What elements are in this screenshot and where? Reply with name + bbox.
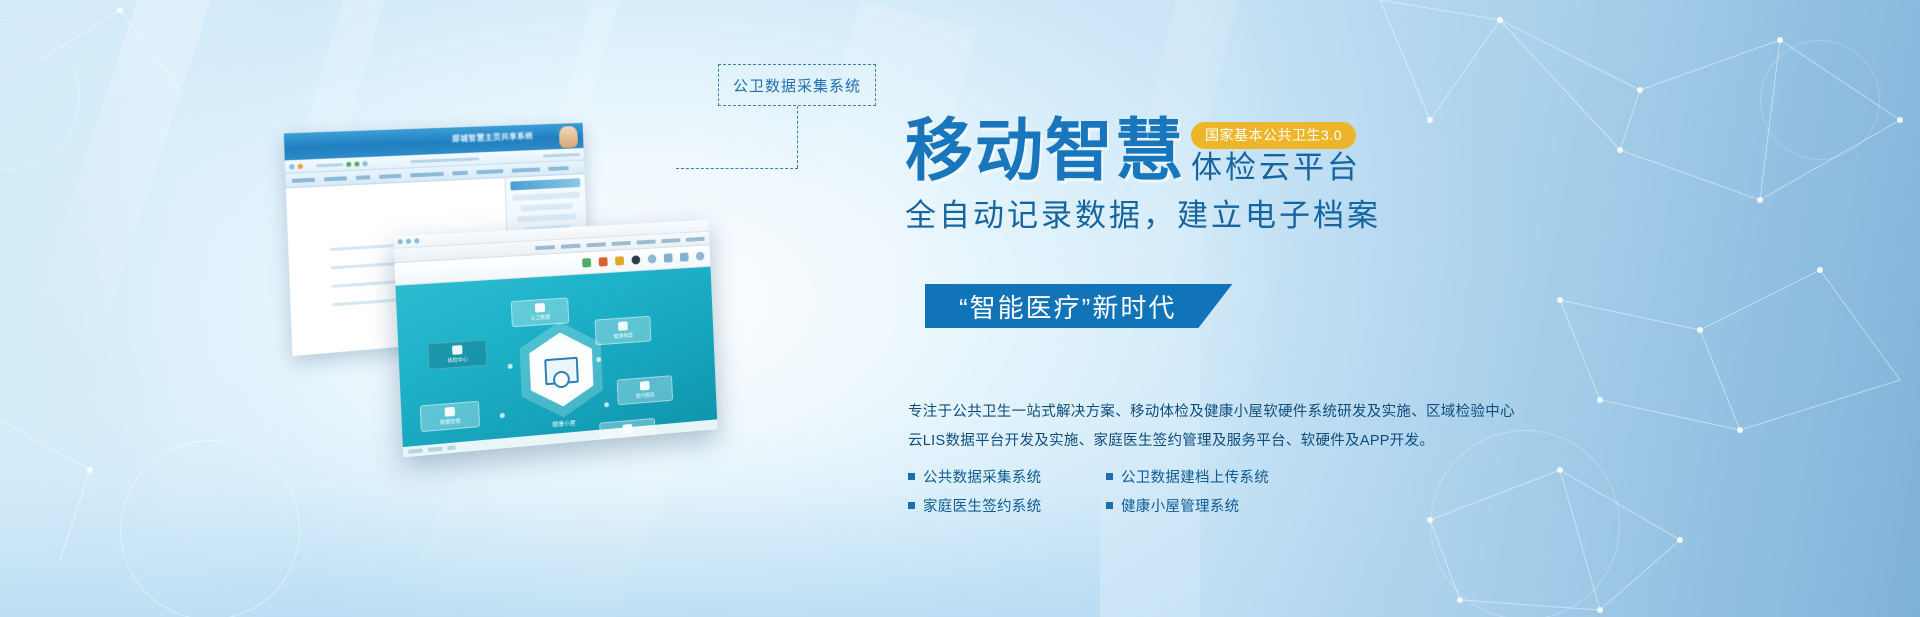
list-item-label: 公共数据采集系统	[923, 466, 1041, 487]
address-bar	[411, 157, 479, 163]
mockup-back-title: 郯城智慧主页共享系统	[452, 131, 533, 145]
hub-label: 健康小屋	[552, 418, 576, 429]
product-screenshots: 郯城智慧主页共享系统	[270, 100, 790, 470]
bullet-square-icon	[1106, 502, 1113, 509]
hand-icon	[445, 407, 456, 417]
gear-icon	[696, 252, 705, 261]
cloud-icon	[535, 303, 545, 313]
decorative-circle	[1430, 430, 1620, 617]
connector-node	[500, 413, 505, 418]
window-dot-icon	[414, 238, 419, 243]
headline-right-group: 国家基本公共卫生3.0 体检云平台	[1191, 122, 1361, 186]
refresh-icon	[346, 161, 351, 166]
description-block: 专注于公共卫生一站式解决方案、移动体检及健康小屋软硬件系统研发及实施、区域检验中…	[908, 398, 1518, 456]
list-item-label: 家庭医生签约系统	[923, 495, 1041, 516]
page-title: 移动智慧	[905, 118, 1185, 186]
callout-label: 公卫数据采集系统	[733, 75, 861, 96]
status-badge: 国家基本公共卫生3.0	[1191, 122, 1356, 149]
home-icon	[354, 161, 359, 166]
toolbar-placeholder	[316, 163, 343, 167]
callout-box: 公卫数据采集系统	[718, 64, 876, 106]
list-item[interactable]: 健康小屋管理系统	[1106, 491, 1269, 520]
doc-icon	[680, 252, 689, 261]
folder-icon	[615, 256, 624, 265]
bullet-square-icon	[908, 502, 915, 509]
dashboard-card-label: 签约服务	[636, 391, 655, 399]
search-document-icon	[544, 357, 579, 386]
ring-icon	[648, 254, 657, 263]
feature-list: 公共数据采集系统 公卫数据建档上传系统 家庭医生签约系统 健康小屋管理系统	[908, 462, 1269, 520]
dashboard-card[interactable]: 公卫数据	[511, 297, 570, 327]
nav-back-icon	[289, 164, 294, 169]
headline-subtitle: 体检云平台	[1191, 151, 1361, 184]
callout-leader-horizontal	[676, 168, 798, 169]
decorative-circle	[1760, 40, 1880, 160]
description-line-2: 云LIS数据平台开发及实施、家庭医生签约管理及服务平台、软硬件及APP开发。	[908, 427, 1518, 456]
tool-icon	[640, 381, 650, 391]
box-icon	[664, 253, 673, 262]
headline-group: 移动智慧 国家基本公共卫生3.0 体检云平台 全自动记录数据，建立电子档案	[905, 118, 1381, 235]
slogan-text: “智能医疗”新时代	[959, 288, 1176, 325]
stop-icon	[362, 161, 367, 166]
window-dot-icon	[398, 239, 403, 244]
connector-node	[508, 364, 513, 369]
circle-icon	[631, 255, 640, 264]
dashboard-card-label: 公卫数据	[530, 314, 550, 322]
building-icon	[599, 257, 608, 266]
hero-banner: 郯城智慧主页共享系统	[0, 0, 1920, 617]
headline-row-2: 全自动记录数据，建立电子档案	[905, 190, 1381, 235]
dashboard-card-label: 体检中心	[447, 356, 468, 365]
dashboard-card-label: 数据管理	[440, 418, 461, 427]
nav-forward-icon	[298, 163, 303, 168]
person-icon	[452, 345, 463, 355]
dashboard-card[interactable]: 数据管理	[420, 401, 480, 432]
tree-icon	[582, 258, 591, 267]
decorative-circle	[0, 20, 80, 170]
description-line-1: 专注于公共卫生一站式解决方案、移动体检及健康小屋软硬件系统研发及实施、区域检验中…	[908, 398, 1518, 427]
background-right-gradient	[1200, 0, 1920, 617]
mockup-front-window: 健康小屋 公卫数据 健康档案 体检中心 数据管理	[393, 220, 717, 457]
avatar	[559, 126, 578, 148]
dashboard-card[interactable]: 签约服务	[617, 375, 673, 405]
light-streak	[26, 0, 216, 362]
callout-leader-vertical	[797, 106, 798, 168]
headline-row-1: 移动智慧 国家基本公共卫生3.0 体检云平台	[905, 118, 1381, 186]
list-item-label: 公卫数据建档上传系统	[1121, 466, 1269, 487]
window-dot-icon	[406, 239, 411, 244]
list-item[interactable]: 公共数据采集系统	[908, 462, 1088, 491]
list-item-label: 健康小屋管理系统	[1121, 495, 1239, 516]
background-left-wash	[0, 0, 300, 617]
mockup-front-dashboard: 健康小屋 公卫数据 健康档案 体检中心 数据管理	[395, 267, 717, 458]
dashboard-card[interactable]: 体检中心	[427, 339, 487, 370]
bullet-square-icon	[1106, 473, 1113, 480]
dashboard-card[interactable]: 健康档案	[595, 316, 652, 346]
plus-icon	[618, 321, 628, 331]
dashboard-card-label: 健康档案	[614, 332, 634, 340]
slogan-ribbon: “智能医疗”新时代	[925, 284, 1232, 328]
list-item[interactable]: 家庭医生签约系统	[908, 491, 1088, 520]
list-item[interactable]: 公卫数据建档上传系统	[1106, 462, 1269, 491]
toolbar-right-placeholder	[543, 153, 580, 157]
bullet-square-icon	[908, 473, 915, 480]
